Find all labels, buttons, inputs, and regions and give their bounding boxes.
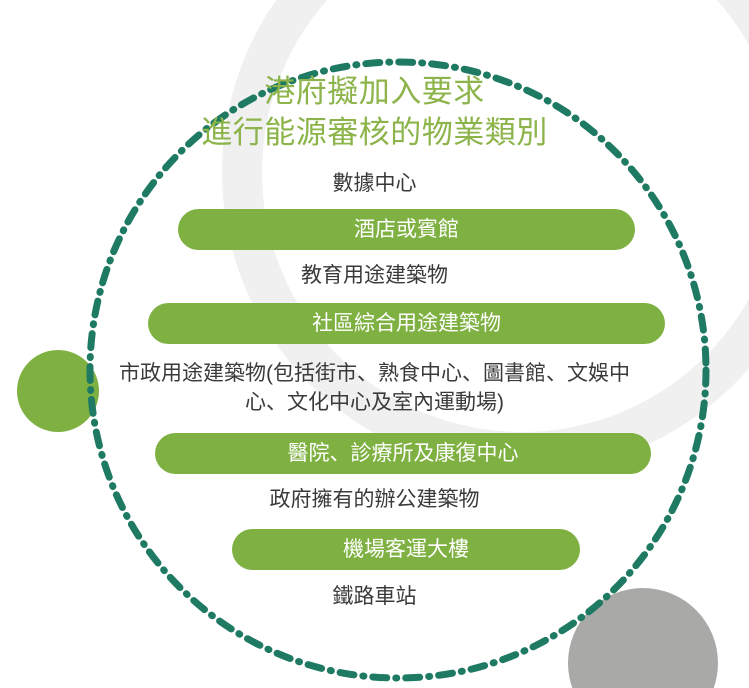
list-item: 數據中心 <box>0 170 749 199</box>
list-item: 酒店或賓館 <box>178 209 635 250</box>
list-item: 鐵路車站 <box>0 583 749 612</box>
title-line-1: 港府擬加入要求 <box>0 72 749 113</box>
list-item: 市政用途建築物(包括街市、熟食中心、圖書館、文娛中心、文化中心及室內運動場) <box>110 360 639 417</box>
title-line-2: 進行能源審核的物業類別 <box>0 113 749 154</box>
infographic-canvas: 港府擬加入要求 進行能源審核的物業類別 數據中心 酒店或賓館 教育用途建築物 社… <box>0 0 749 688</box>
list-item: 社區綜合用途建築物 <box>148 303 665 344</box>
page-title: 港府擬加入要求 進行能源審核的物業類別 <box>0 72 749 154</box>
list-item: 醫院、診療所及康復中心 <box>155 433 651 474</box>
list-item: 機場客運大樓 <box>232 529 580 570</box>
list-item: 教育用途建築物 <box>0 262 749 291</box>
infographic-content: 港府擬加入要求 進行能源審核的物業類別 數據中心 酒店或賓館 教育用途建築物 社… <box>0 0 749 688</box>
list-item: 政府擁有的辦公建築物 <box>0 486 749 515</box>
